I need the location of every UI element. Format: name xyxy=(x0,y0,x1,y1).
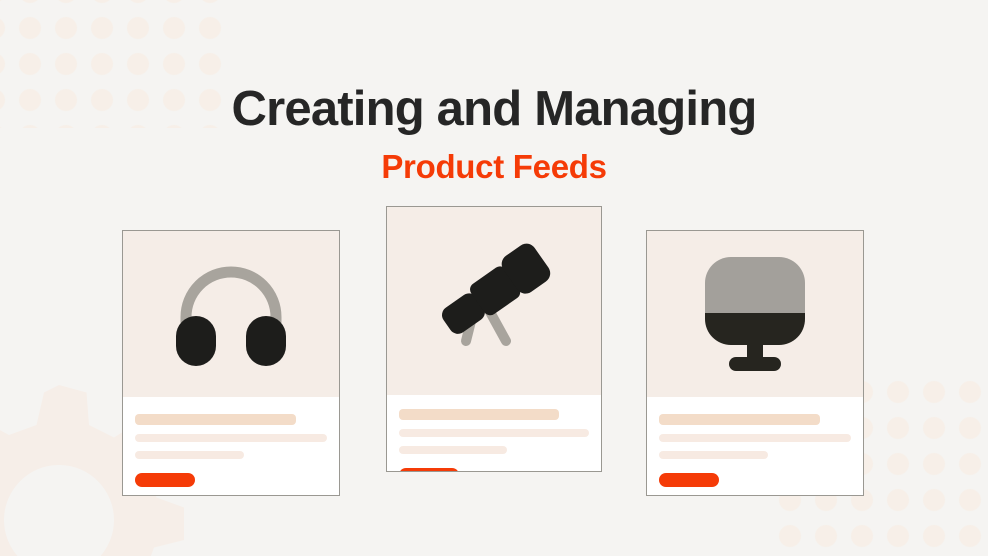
card-media-area xyxy=(387,207,601,395)
placeholder-text-line-1 xyxy=(399,429,589,437)
card-body xyxy=(647,397,863,495)
cta-button[interactable] xyxy=(659,473,719,487)
placeholder-title-bar xyxy=(659,414,820,425)
product-card-headphones[interactable] xyxy=(122,230,340,496)
title-sub-line: Product Feeds xyxy=(0,147,988,187)
cta-button[interactable] xyxy=(135,473,195,487)
placeholder-text-line-1 xyxy=(659,434,851,442)
cta-button[interactable] xyxy=(399,468,459,472)
slide-canvas: Creating and Managing Product Feeds xyxy=(0,0,988,556)
monitor-icon xyxy=(699,253,811,375)
placeholder-title-bar xyxy=(399,409,559,420)
card-media-area xyxy=(647,231,863,397)
placeholder-text-line-2 xyxy=(399,446,507,454)
placeholder-text-line-2 xyxy=(659,451,768,459)
placeholder-text-line-2 xyxy=(135,451,244,459)
card-body xyxy=(387,395,601,472)
title-main-line: Creating and Managing xyxy=(0,82,988,137)
product-card-telescope[interactable] xyxy=(386,206,602,472)
page-title: Creating and Managing Product Feeds xyxy=(0,82,988,186)
placeholder-title-bar xyxy=(135,414,296,425)
telescope-icon xyxy=(432,243,556,359)
placeholder-text-line-1 xyxy=(135,434,327,442)
headphones-icon xyxy=(172,261,290,367)
card-media-area xyxy=(123,231,339,397)
card-body xyxy=(123,397,339,495)
product-card-monitor[interactable] xyxy=(646,230,864,496)
